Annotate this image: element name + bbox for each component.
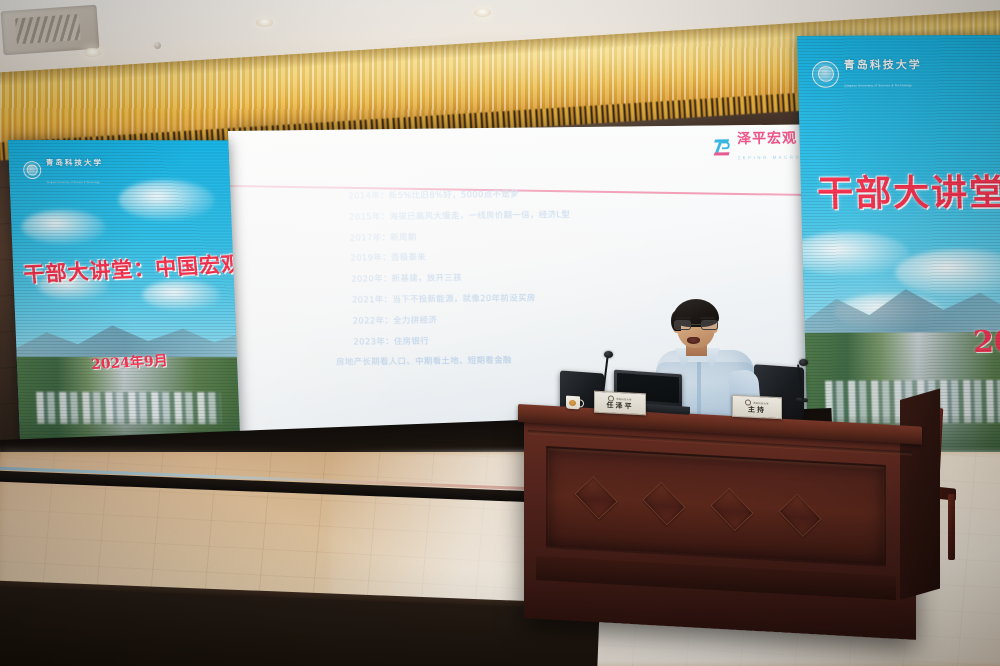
logo-text-en: ZEPING MACRO	[738, 154, 802, 160]
tea-mug	[566, 396, 580, 410]
slide-line: 2017年：新周期	[350, 228, 770, 241]
university-name-cn: 青岛科技大学	[46, 158, 103, 167]
air-conditioner-vent	[1, 5, 100, 56]
right-led-banner: 青岛科技大学 Qingdao University of Science & T…	[797, 35, 1000, 460]
wooden-chair-leg	[948, 494, 955, 560]
banner-cloud	[21, 210, 106, 244]
microphone-head	[604, 351, 613, 358]
university-crest-icon	[23, 161, 42, 179]
banner-university-logo: 青岛科技大学 Qingdao University of Science & T…	[812, 55, 923, 92]
carved-diamond	[642, 482, 685, 525]
logo-text-cn: 泽平宏观	[737, 131, 798, 148]
sprinkler-head	[154, 42, 161, 49]
university-crest-icon	[812, 60, 840, 87]
ceiling-downlight	[474, 8, 491, 17]
podium-desk-side	[900, 389, 940, 600]
nameplate-primary: 青岛科技大学 任泽平	[594, 391, 646, 416]
nameplate-name: 任泽平	[607, 402, 634, 410]
slide-line: 2015年：海拔已高风大慢走，一线房价翻一倍，经济L型	[349, 208, 769, 221]
banner-cloud	[142, 280, 221, 310]
microphone-head	[799, 359, 808, 366]
podium-carved-panel	[546, 446, 886, 567]
eyeglasses-icon	[674, 320, 718, 330]
slide-line: 2019年：否极泰来	[350, 249, 770, 262]
carved-diamond	[710, 488, 753, 531]
banner-cloud	[118, 180, 216, 220]
speaker-mouth	[687, 337, 700, 344]
slide-line: 2020年：新基建，放开三孩	[351, 270, 771, 283]
ceiling-downlight	[84, 48, 101, 57]
university-name-en: Qingdao University of Science & Technolo…	[47, 182, 100, 184]
zeping-z-mark-icon	[713, 138, 733, 157]
lecture-hall-scene: 泽平宏观 ZEPING MACRO 2014年：新5%比旧8%好，5000点不是…	[0, 0, 1000, 666]
banner-university-logo: 青岛科技大学 Qingdao University of Science & T…	[22, 152, 104, 188]
ceiling-downlight	[256, 18, 273, 27]
banner-title: 干部大讲堂：	[817, 175, 1000, 214]
nameplate-name: 主持	[748, 407, 766, 415]
nameplate-org: 青岛科技大学	[616, 397, 632, 402]
nameplate-secondary: 青岛科技大学 主持	[732, 395, 782, 420]
banner-date: 20	[973, 325, 1000, 360]
nameplate-org: 青岛科技大学	[753, 401, 769, 406]
banner-date: 2024年9月	[90, 350, 168, 374]
university-name-cn: 青岛科技大学	[844, 58, 922, 71]
carved-diamond	[574, 476, 617, 519]
university-name-en: Qingdao University of Science & Technolo…	[844, 84, 912, 87]
left-led-banner: 青岛科技大学 Qingdao University of Science & T…	[8, 140, 241, 450]
zeping-macro-logo: 泽平宏观 ZEPING MACRO	[713, 131, 802, 164]
carved-diamond	[778, 494, 821, 537]
